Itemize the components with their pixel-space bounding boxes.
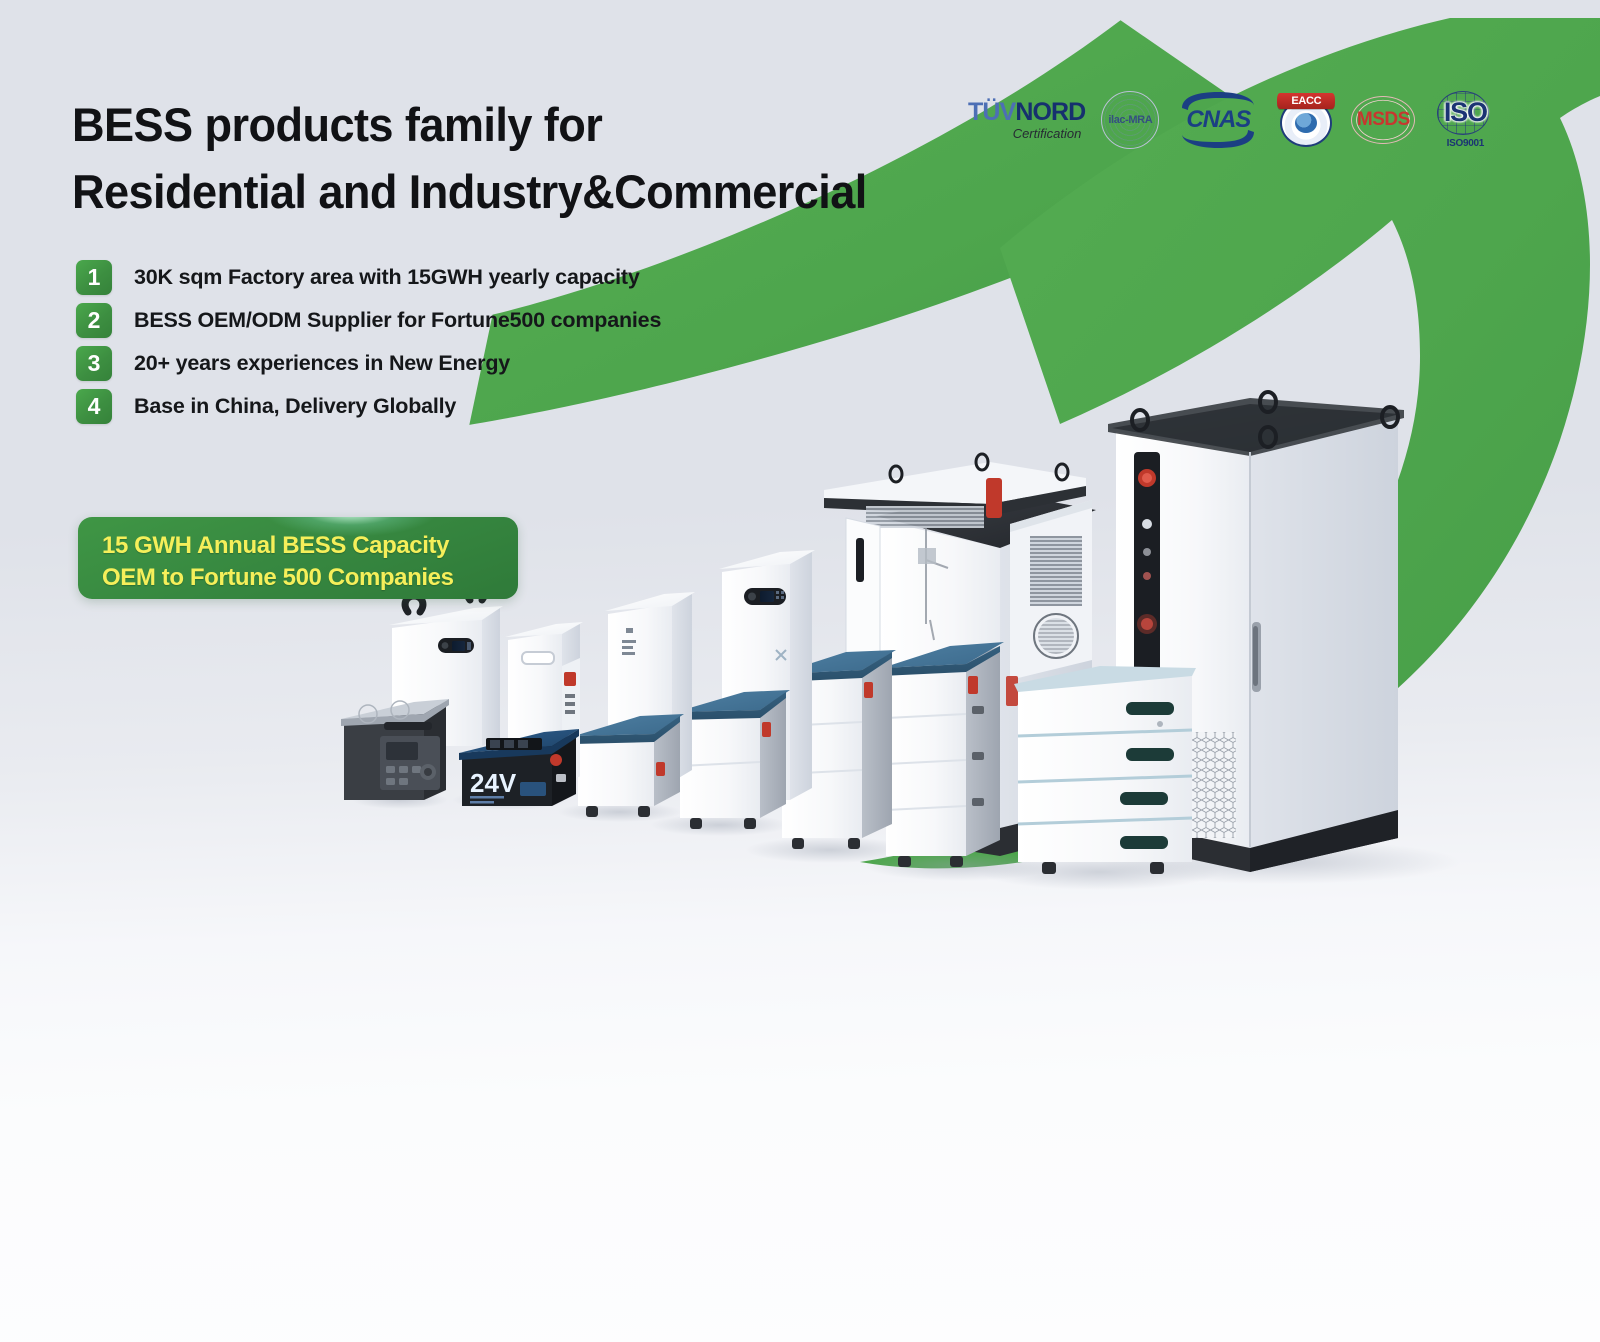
connector-port <box>968 676 978 694</box>
handle-slot <box>522 652 554 664</box>
cnas-label: CNAS <box>1175 106 1261 134</box>
bullet-number-badge: 1 <box>76 260 112 295</box>
headline-line-1: BESS products family for <box>72 92 994 159</box>
stacked-battery-medium <box>676 690 790 829</box>
portable-power-station <box>341 699 449 800</box>
stacked-battery-small <box>574 714 684 817</box>
msds-label: MSDS <box>1351 109 1415 131</box>
beacon-light <box>986 478 1002 518</box>
connector-port <box>864 682 873 698</box>
lcd-display-panel <box>438 638 474 653</box>
bullet-text: 20+ years experiences in New Energy <box>134 351 510 376</box>
ilac-mra-logo: ilac-MRA <box>1101 87 1159 153</box>
bullet-number-badge: 3 <box>76 346 112 381</box>
lcd-display-panel <box>744 588 786 605</box>
capacity-badge-line-1: 15 GWH Annual BESS Capacity <box>102 530 518 562</box>
cnas-logo: CNAS <box>1175 87 1261 153</box>
list-item: 3 20+ years experiences in New Energy <box>76 342 661 384</box>
iso-label: ISO <box>1431 97 1499 128</box>
connector-port <box>656 762 665 776</box>
display-screen <box>386 742 418 760</box>
stacked-battery-xlarge <box>882 642 1004 867</box>
certification-logo-row: TÜVNORD Certification ilac-MRA CNAS <box>968 84 1499 156</box>
list-item: 1 30K sqm Factory area with 15GWH yearly… <box>76 256 661 298</box>
positive-terminal <box>550 754 562 766</box>
hvac-grille <box>1030 536 1082 606</box>
hvac-fan <box>1038 618 1074 654</box>
eacc-label: EACC <box>1277 93 1335 109</box>
bullet-text: BESS OEM/ODM Supplier for Fortune500 com… <box>134 308 661 333</box>
bullet-number-badge: 4 <box>76 389 112 424</box>
feature-list: 1 30K sqm Factory area with 15GWH yearly… <box>76 256 661 428</box>
capacity-badge-line-2: OEM to Fortune 500 Companies <box>102 562 518 594</box>
headline-line-2: Residential and Industry&Commercial <box>72 159 994 226</box>
intake-louver <box>866 506 984 528</box>
bullet-text: Base in China, Delivery Globally <box>134 394 456 419</box>
bess-product-family-banner: BESS products family for Residential and… <box>0 0 1600 1342</box>
modular-drawer-tower <box>1014 666 1196 874</box>
tuv-nord-secondary: NORD <box>1015 98 1085 126</box>
hvac-unit <box>1010 500 1092 680</box>
bullet-text: 30K sqm Factory area with 15GWH yearly c… <box>134 265 640 290</box>
eacc-logo: EACC <box>1277 87 1335 153</box>
tuv-nord-primary: TÜV <box>968 98 1015 126</box>
connector-port <box>762 722 771 737</box>
bullet-number-badge: 2 <box>76 303 112 338</box>
iso-standard-label: ISO9001 <box>1431 138 1499 149</box>
ilac-mra-label: ilac-MRA <box>1101 114 1159 126</box>
door-handle <box>856 538 864 582</box>
list-item: 4 Base in China, Delivery Globally <box>76 385 661 427</box>
list-item: 2 BESS OEM/ODM Supplier for Fortune500 c… <box>76 299 661 341</box>
battery-voltage-label: 24V <box>470 768 517 798</box>
msds-logo: MSDS <box>1351 87 1415 153</box>
iso-logo: ISO ISO9001 <box>1431 87 1499 153</box>
tuv-nord-caption: Certification <box>1013 126 1082 141</box>
tuv-nord-logo: TÜVNORD Certification <box>968 87 1085 153</box>
page-title: BESS products family for Residential and… <box>72 92 1032 225</box>
capacity-highlight-badge: 15 GWH Annual BESS Capacity OEM to Fortu… <box>78 517 518 599</box>
breaker-switch <box>564 672 576 686</box>
